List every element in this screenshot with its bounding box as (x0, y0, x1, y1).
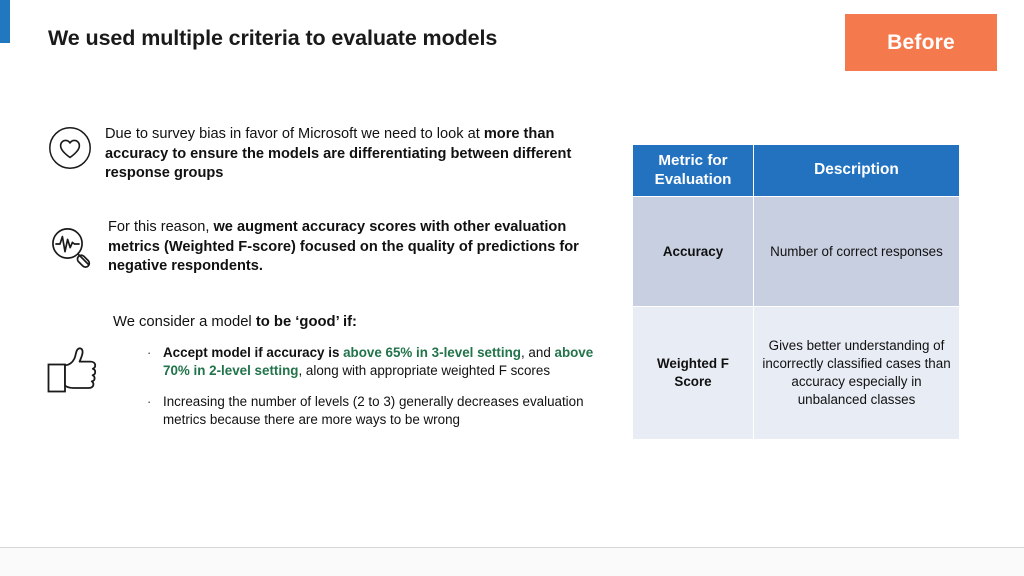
content-block-survey-bias-text: Due to survey bias in favor of Microsoft… (105, 124, 618, 184)
list-item: · Increasing the number of levels (2 to … (147, 393, 619, 428)
list-item: · Accept model if accuracy is above 65% … (147, 344, 619, 379)
footer: 21 Brand Valuation Wave 3 aka.ms/researc… (0, 548, 1024, 576)
bullet-accept-plain-2: , along with appropriate weighted F scor… (298, 363, 550, 378)
before-badge: Before (845, 14, 997, 71)
table-header-row: Metric for Evaluation Description (633, 145, 960, 197)
table-row: Accuracy Number of correct responses (633, 197, 960, 307)
thumbs-up-icon (44, 343, 106, 406)
good-model-bullet-list: · Accept model if accuracy is above 65% … (147, 344, 619, 442)
page-title: We used multiple criteria to evaluate mo… (48, 26, 497, 51)
magnifier-pulse-icon (46, 222, 98, 279)
slide-canvas: We used multiple criteria to evaluate mo… (0, 0, 1024, 576)
bullet-accept-plain-1: , and (521, 345, 555, 360)
good-model-intro-bold: to be ‘good’ if: (256, 314, 357, 330)
before-badge-label: Before (887, 31, 955, 55)
bullet-marker-icon: · (147, 344, 163, 362)
augment-metrics-plain-text: For this reason, (108, 219, 213, 235)
content-block-augment-metrics: For this reason, we augment accuracy sco… (46, 218, 616, 279)
heart-in-circle-icon (48, 126, 92, 175)
survey-bias-plain-text: Due to survey bias in favor of Microsoft… (105, 126, 484, 142)
content-block-survey-bias: Due to survey bias in favor of Microsoft… (48, 124, 618, 184)
cell-description-accuracy: Number of correct responses (754, 197, 960, 307)
accent-bar (0, 0, 10, 43)
bullet-increasing-levels-text: Increasing the number of levels (2 to 3)… (163, 393, 619, 428)
cell-description-weighted-f-score: Gives better understanding of incorrectl… (754, 307, 960, 440)
bullet-accept-bold-1: Accept model if accuracy is (163, 345, 343, 360)
good-model-intro-plain: We consider a model (113, 314, 256, 330)
bullet-marker-icon: · (147, 393, 163, 411)
column-header-metric: Metric for Evaluation (633, 145, 754, 197)
table-row: Weighted F Score Gives better understand… (633, 307, 960, 440)
metric-evaluation-table: Metric for Evaluation Description Accura… (632, 144, 960, 440)
bullet-accept-model-text: Accept model if accuracy is above 65% in… (163, 344, 619, 379)
column-header-description: Description (754, 145, 960, 197)
cell-metric-weighted-f-score: Weighted F Score (633, 307, 754, 440)
content-block-augment-metrics-text: For this reason, we augment accuracy sco… (108, 218, 616, 277)
bullet-accept-green-1: above 65% in 3-level setting (343, 345, 521, 360)
cell-metric-accuracy: Accuracy (633, 197, 754, 307)
good-model-intro: We consider a model to be ‘good’ if: (113, 312, 357, 332)
